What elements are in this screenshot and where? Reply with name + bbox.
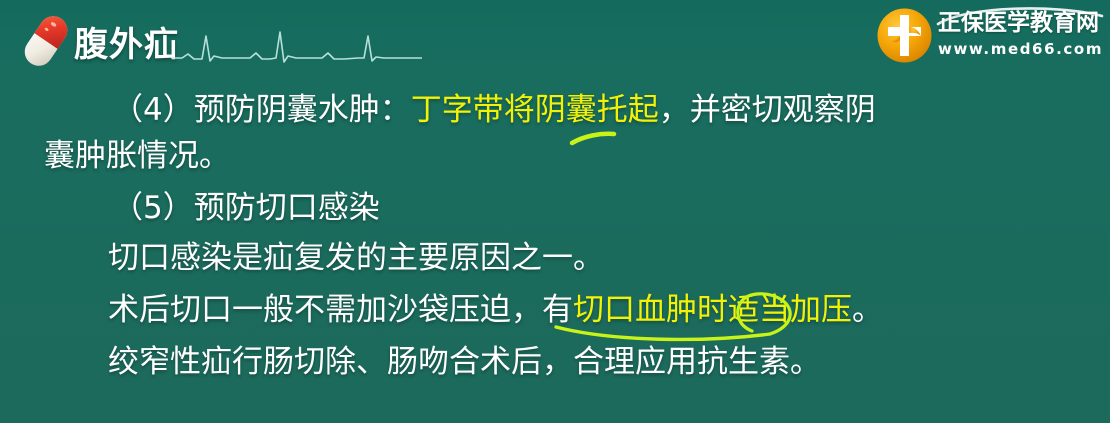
line-5-segment-plain-2: 。 xyxy=(852,292,883,328)
logo-brand-name: 正保医学教育网 xyxy=(938,8,1102,38)
content-line-2: 囊肿胀情况。 xyxy=(44,136,230,176)
line-1-segment-highlight: 丁字带将阴囊托起 xyxy=(411,92,659,128)
line-3-segment-plain: （5）预防切口感染 xyxy=(112,190,380,226)
line-1-segment-plain-2: ，并密切观察阴 xyxy=(659,92,876,128)
line-5-segment-plain: 术后切口一般不需加沙袋压迫，有 xyxy=(108,292,573,328)
content-line-5: 术后切口一般不需加沙袋压迫，有切口血肿时适当加压。 xyxy=(108,290,883,330)
line-4-segment-plain: 切口感染是疝复发的主要原因之一。 xyxy=(108,240,604,276)
site-logo: 正保医学教育网 www.med66.com xyxy=(876,4,1102,70)
line-2-segment-plain: 囊肿胀情况。 xyxy=(44,138,230,174)
logo-website-url: www.med66.com xyxy=(938,40,1102,58)
line-1-segment-plain: （4）预防阴囊水肿： xyxy=(112,92,411,128)
line-6-segment-plain: 绞窄性疝行肠切除、肠吻合术后，合理应用抗生素。 xyxy=(108,344,821,380)
page-title: 腹外疝 xyxy=(74,17,179,66)
pill-capsule-icon xyxy=(18,10,74,72)
ecg-waveform-icon xyxy=(172,28,422,70)
content-line-3: （5）预防切口感染 xyxy=(112,188,380,228)
med66-cross-logo-icon xyxy=(876,7,933,64)
content-line-1: （4）预防阴囊水肿：丁字带将阴囊托起，并密切观察阴 xyxy=(112,90,876,130)
slide-body: （4）预防阴囊水肿：丁字带将阴囊托起，并密切观察阴 囊肿胀情况。 （5）预防切口… xyxy=(0,80,1110,423)
line-5-segment-highlight: 切口血肿时适当加压 xyxy=(573,292,852,328)
logo-text: 正保医学教育网 www.med66.com xyxy=(938,8,1102,58)
content-line-6: 绞窄性疝行肠切除、肠吻合术后，合理应用抗生素。 xyxy=(108,342,821,382)
content-line-4: 切口感染是疝复发的主要原因之一。 xyxy=(108,238,604,278)
slide-root: 腹外疝 xyxy=(0,0,1110,423)
